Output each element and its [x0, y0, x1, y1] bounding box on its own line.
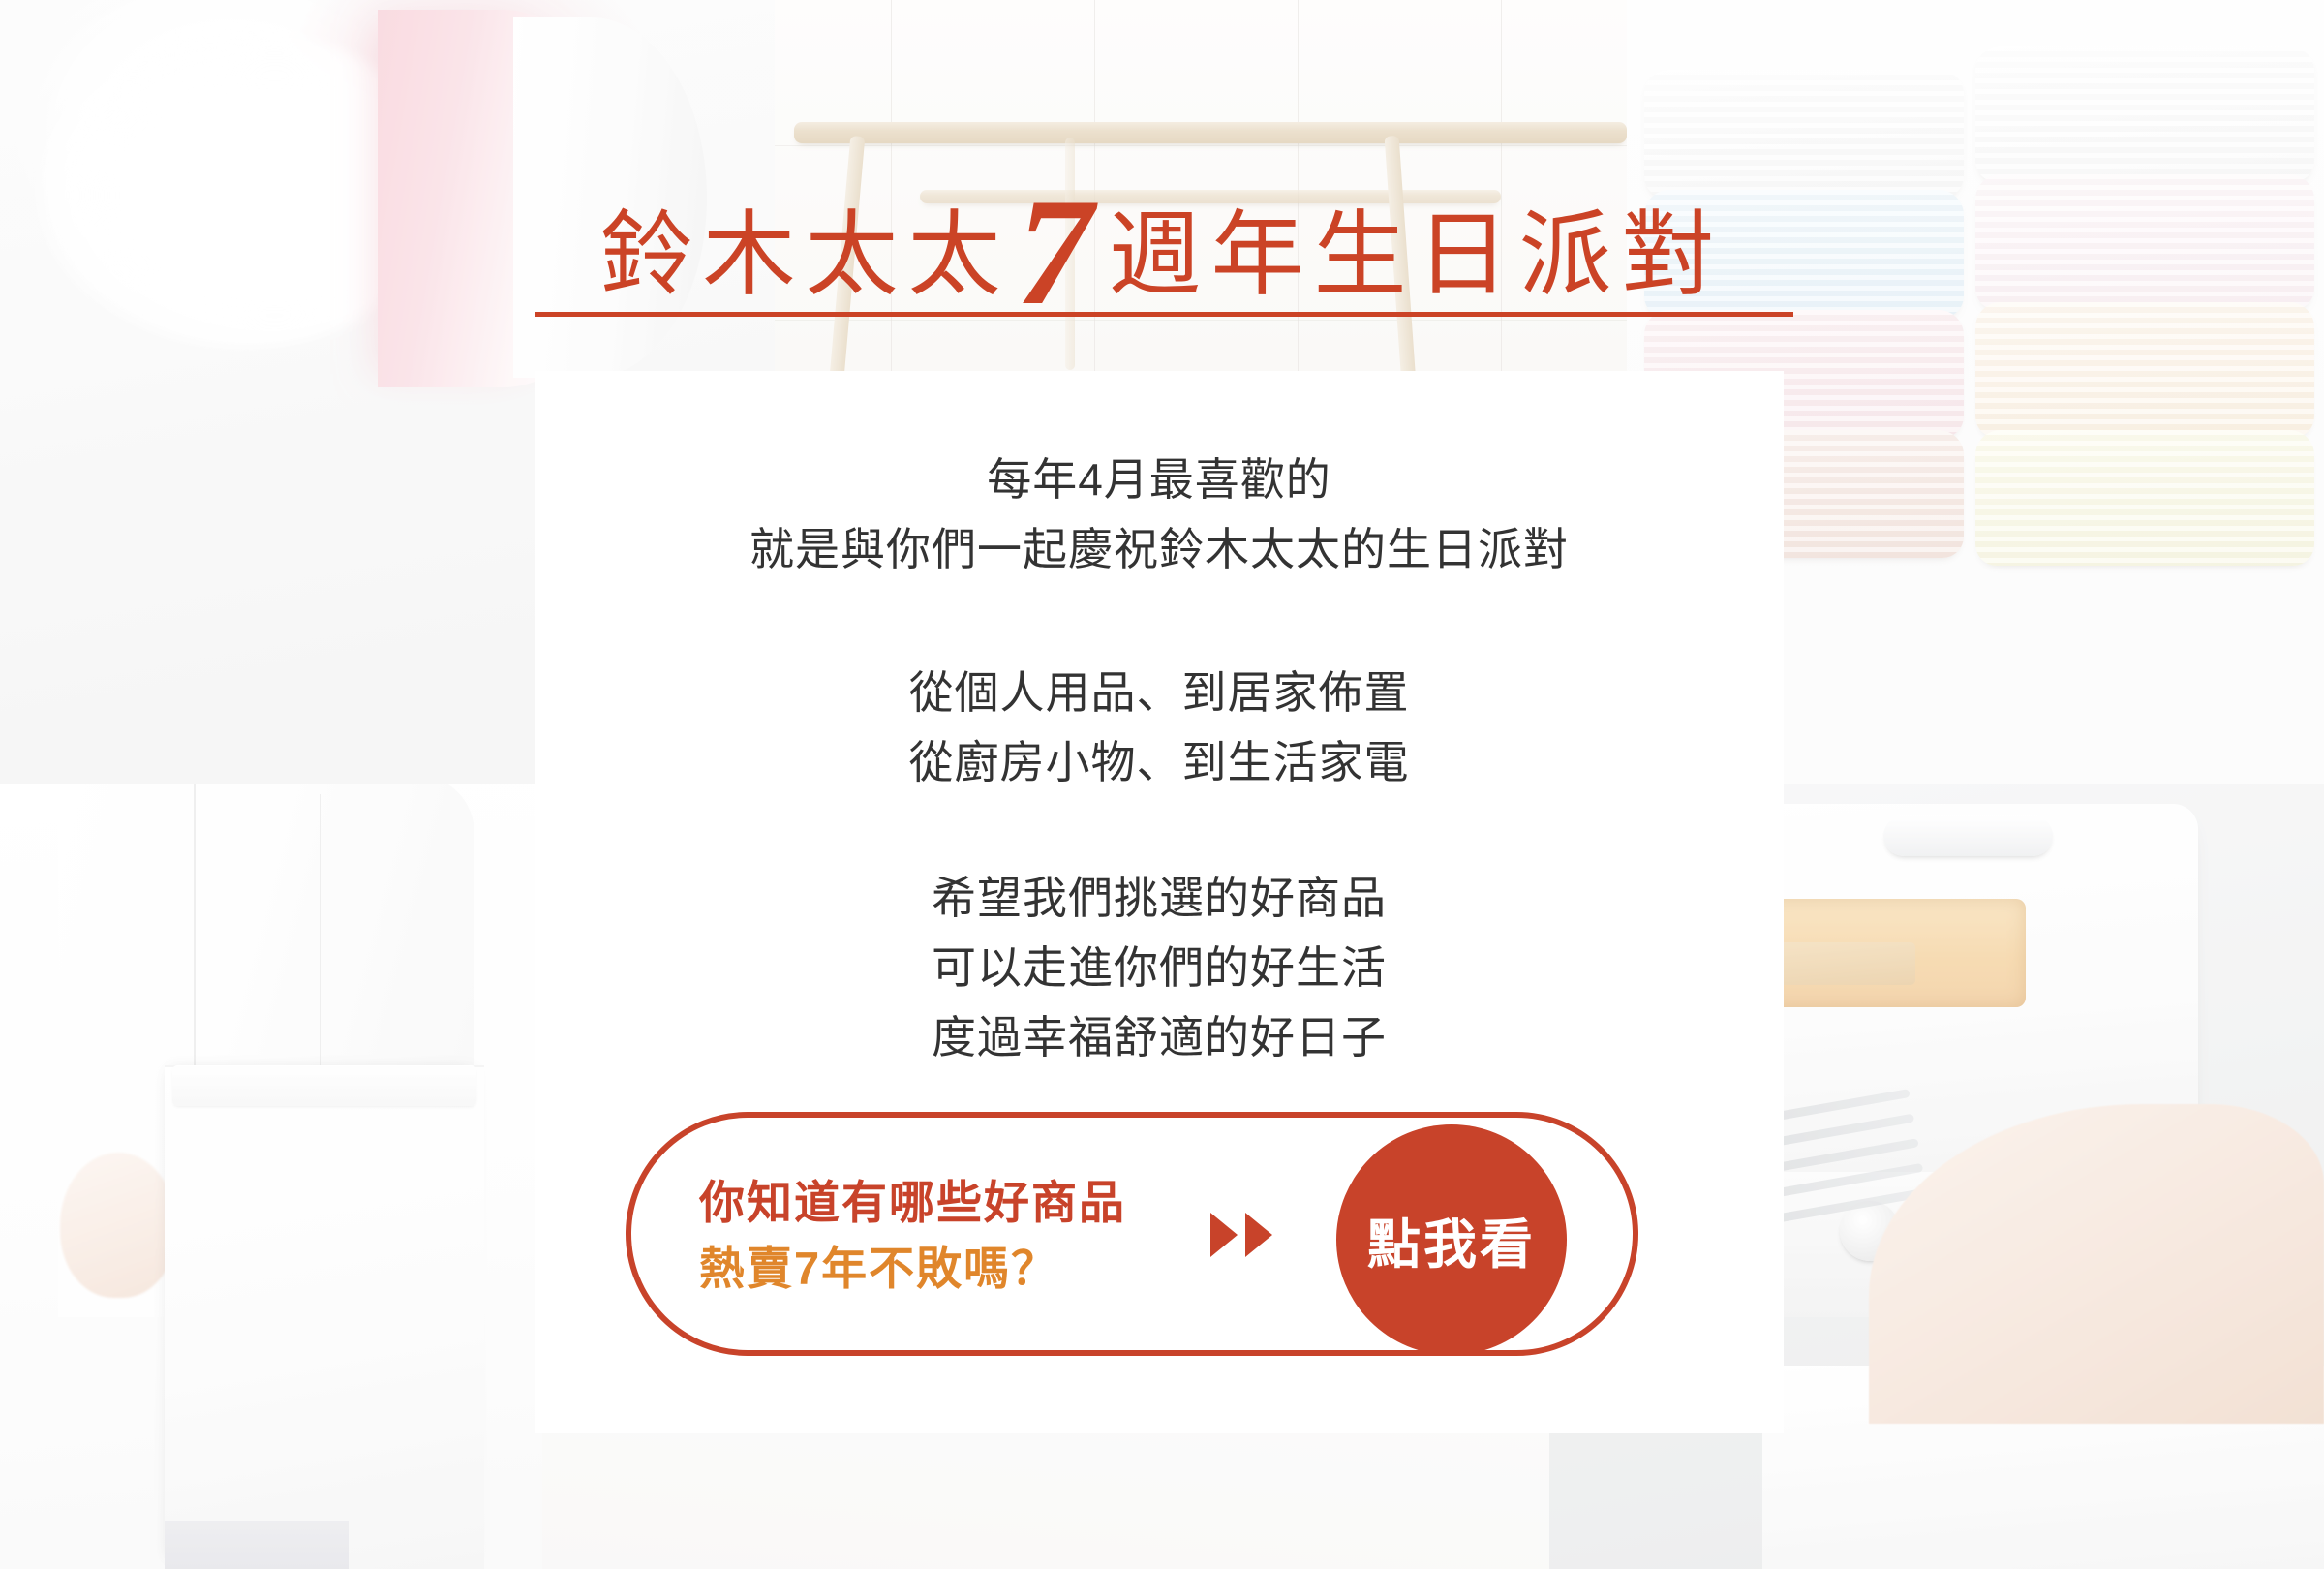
- body-block-2: 從個人用品、到居家佈置 從廚房小物、到生活家電: [535, 658, 1784, 797]
- bg-tile-person-with-box: [0, 784, 542, 1569]
- body-line: 就是與你們一起慶祝鈴木太太的生日派對: [535, 514, 1784, 584]
- body-line: 從廚房小物、到生活家電: [535, 727, 1784, 797]
- trousers: [165, 1521, 349, 1569]
- headline-part1: 鈴木太太: [600, 209, 1011, 306]
- toast-slice: [1780, 942, 1915, 985]
- body-line: 希望我們挑選的好商品: [535, 863, 1784, 933]
- promo-banner: 鈴木太太 7 週年生日派對 每年4月最喜歡的 就是與你們一起慶祝鈴木太太的生日派…: [0, 0, 2324, 1569]
- headline-part2: 週年生日派對: [1109, 209, 1725, 306]
- body-line: 可以走進你們的好生活: [535, 933, 1784, 1002]
- storage-box: [165, 1065, 484, 1569]
- storage-box-lid: [172, 1065, 476, 1106]
- hand: [60, 1153, 176, 1298]
- cta-line-2: 熱賣7年不敗嗎？: [699, 1236, 1126, 1302]
- double-right-triangle-icon: [1210, 1213, 1272, 1257]
- cta-banner[interactable]: 你知道有哪些好商品 熱賣7年不敗嗎？ 點我看: [626, 1112, 1638, 1356]
- body-line: 從個人用品、到居家佈置: [535, 658, 1784, 727]
- headline-anniversary-number: 7: [1011, 190, 1109, 316]
- oven-handle: [1883, 815, 2053, 856]
- click-me-button[interactable]: 點我看: [1336, 1124, 1567, 1355]
- content-card: 每年4月最喜歡的 就是與你們一起慶祝鈴木太太的生日派對 從個人用品、到居家佈置 …: [535, 371, 1784, 1433]
- body-line: 度過幸福舒適的好日子: [535, 1002, 1784, 1072]
- headline-underline: [535, 312, 1793, 317]
- cta-line-1: 你知道有哪些好商品: [699, 1170, 1126, 1236]
- body-line: 每年4月最喜歡的: [535, 445, 1784, 514]
- click-me-button-label: 點我看: [1367, 1201, 1536, 1278]
- body-block-3: 希望我們挑選的好商品 可以走進你們的好生活 度過幸福舒適的好日子: [535, 863, 1784, 1072]
- cta-text: 你知道有哪些好商品 熱賣7年不敗嗎？: [699, 1170, 1126, 1302]
- body-block-1: 每年4月最喜歡的 就是與你們一起慶祝鈴木太太的生日派對: [535, 445, 1784, 584]
- page-title: 鈴木太太 7 週年生日派對: [0, 180, 2324, 306]
